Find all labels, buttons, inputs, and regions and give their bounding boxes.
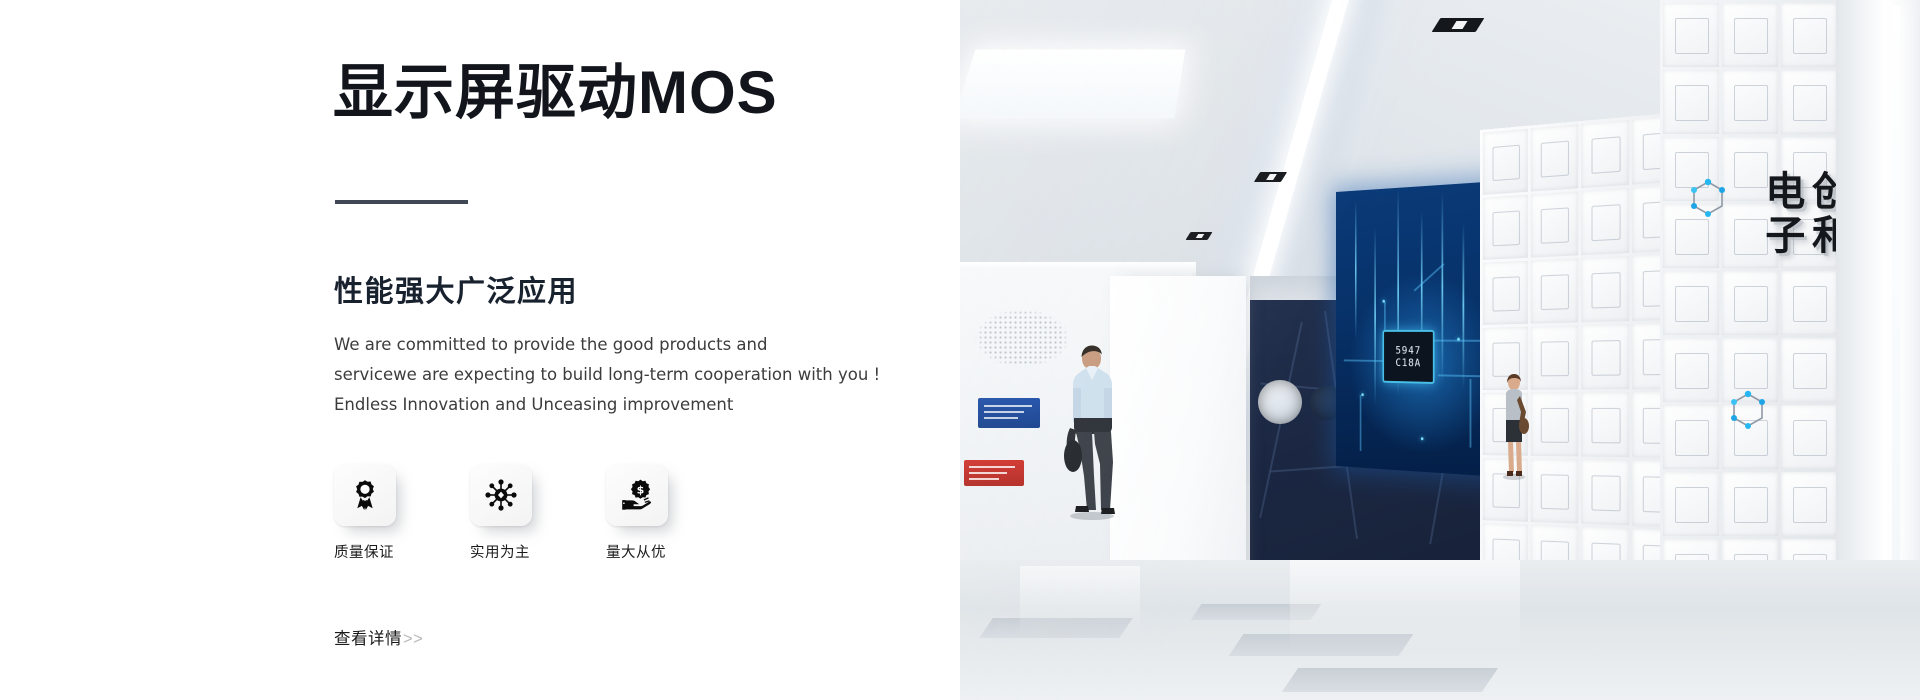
description-line-3: Endless Innovation and Unceasing improve… xyxy=(334,390,894,420)
feature-label: 质量保证 xyxy=(334,541,394,562)
feature-label: 实用为主 xyxy=(470,541,530,562)
page-title: 显示屏驱动MOS xyxy=(333,58,778,127)
feature-list: 质量保证 xyxy=(334,464,684,562)
feature-icon-box: $ xyxy=(606,464,668,526)
person-walking-woman xyxy=(1496,372,1532,480)
title-divider xyxy=(335,200,468,204)
feature-item-bulk-discount[interactable]: $ 量大从优 xyxy=(606,464,684,562)
chevron-right-icon: >> xyxy=(403,630,423,648)
description-line-1: We are committed to provide the good pro… xyxy=(334,330,894,360)
svg-text:$: $ xyxy=(637,484,645,497)
hexagon-molecule-icon xyxy=(1686,176,1730,224)
chip-label: 5947 C18A xyxy=(1382,330,1434,384)
banner-description: We are committed to provide the good pro… xyxy=(334,330,894,420)
feature-item-quality[interactable]: 质量保证 xyxy=(334,464,412,562)
hero-banner: 显示屏驱动MOS 性能强大广泛应用 We are committed to pr… xyxy=(0,0,1920,700)
showroom-floor xyxy=(960,560,1920,700)
person-standing-man xyxy=(1056,340,1126,520)
feature-item-practical[interactable]: 实用为主 xyxy=(470,464,548,562)
exhibit-circle xyxy=(1258,380,1302,424)
description-line-2: servicewe are expecting to build long-te… xyxy=(334,360,894,390)
showroom-photo: 5947 C18A xyxy=(960,0,1920,700)
feature-icon-box xyxy=(334,464,396,526)
view-details-label: 查看详情 xyxy=(334,630,402,648)
view-details-link[interactable]: 查看详情>> xyxy=(334,625,423,649)
red-wall-plaque xyxy=(964,460,1024,486)
pillar-light-strip xyxy=(1892,6,1900,566)
hand-coin-icon: $ xyxy=(620,478,654,512)
wall-sign-column-left: 电子 xyxy=(1760,170,1801,400)
chip-line-1: 5947 xyxy=(1395,344,1421,357)
network-hub-icon xyxy=(484,478,518,512)
skylight-panel xyxy=(960,50,1185,119)
feature-icon-box xyxy=(470,464,532,526)
hexagon-molecule-icon xyxy=(1726,388,1770,436)
banner-subtitle: 性能强大广泛应用 xyxy=(334,268,578,310)
recessed-spotlight xyxy=(1432,18,1485,32)
blue-wall-plaque xyxy=(978,398,1040,428)
banner-text-panel: 显示屏驱动MOS 性能强大广泛应用 We are committed to pr… xyxy=(0,0,960,700)
award-ribbon-icon xyxy=(348,478,382,512)
feature-label: 量大从优 xyxy=(606,541,666,562)
chip-line-2: C18A xyxy=(1395,356,1421,369)
